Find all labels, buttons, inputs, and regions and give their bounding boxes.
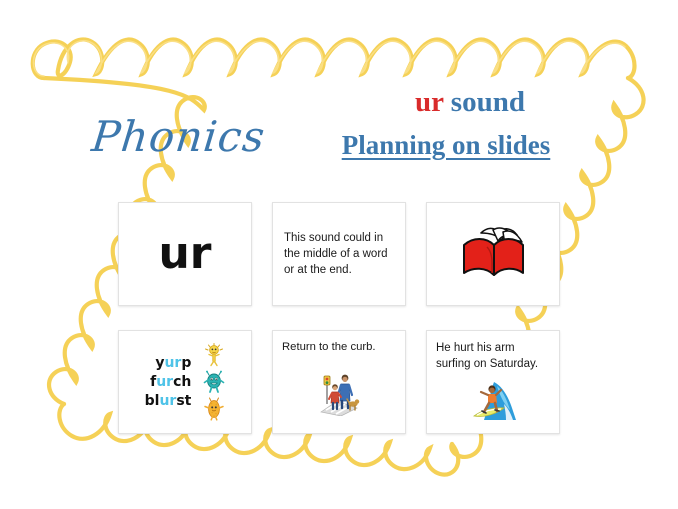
card-row-bottom: yurp furch blurst <box>118 330 560 434</box>
nonsense-word-list: yurp furch blurst <box>145 356 192 408</box>
nonsense-word-1: yurp <box>145 356 192 370</box>
grapheme-text: ur <box>158 232 211 276</box>
sound-title-word: sound <box>444 86 525 118</box>
sound-title-grapheme: ur <box>415 86 443 118</box>
card-nonsense-words[interactable]: yurp furch blurst <box>118 330 252 434</box>
yellow-spiky-alien-icon <box>203 343 225 367</box>
phonics-slide: Phonics ur sound Planning on slides ur T… <box>0 0 678 509</box>
sentence-surf-text: He hurt his arm surfing on Saturday. <box>436 340 550 372</box>
sentence-curb-picture <box>282 356 396 429</box>
page-title-phonics: Phonics <box>89 112 267 161</box>
nonsense-alien-list <box>203 343 225 421</box>
sentence-surf-picture <box>436 372 550 429</box>
nonsense-word-2: furch <box>145 375 192 389</box>
nonsense-word-3: blurst <box>145 394 192 408</box>
card-sentence-surf[interactable]: He hurt his arm surfing on Saturday. <box>426 330 560 434</box>
surfer-on-wave-icon <box>468 380 518 422</box>
sentence-curb-text: Return to the curb. <box>282 340 396 356</box>
teal-round-alien-icon <box>203 370 225 394</box>
card-grid: ur This sound could in the middle of a w… <box>118 202 560 440</box>
card-grapheme[interactable]: ur <box>118 202 252 306</box>
open-book-icon <box>457 223 529 285</box>
sound-title: ur sound <box>330 86 610 119</box>
subtitle-planning-on-slides: Planning on slides <box>286 130 606 161</box>
card-book-illustration[interactable] <box>426 202 560 306</box>
orange-oval-alien-icon <box>203 397 225 421</box>
slide-header: Phonics ur sound Planning on slides <box>0 78 678 188</box>
nonsense-word-table: yurp furch blurst <box>145 343 226 421</box>
crosswalk-pedestrians-icon <box>317 368 361 416</box>
card-row-top: ur This sound could in the middle of a w… <box>118 202 560 306</box>
card-explanation[interactable]: This sound could in the middle of a word… <box>272 202 406 306</box>
explanation-text: This sound could in the middle of a word… <box>284 230 394 279</box>
card-sentence-curb[interactable]: Return to the curb. <box>272 330 406 434</box>
